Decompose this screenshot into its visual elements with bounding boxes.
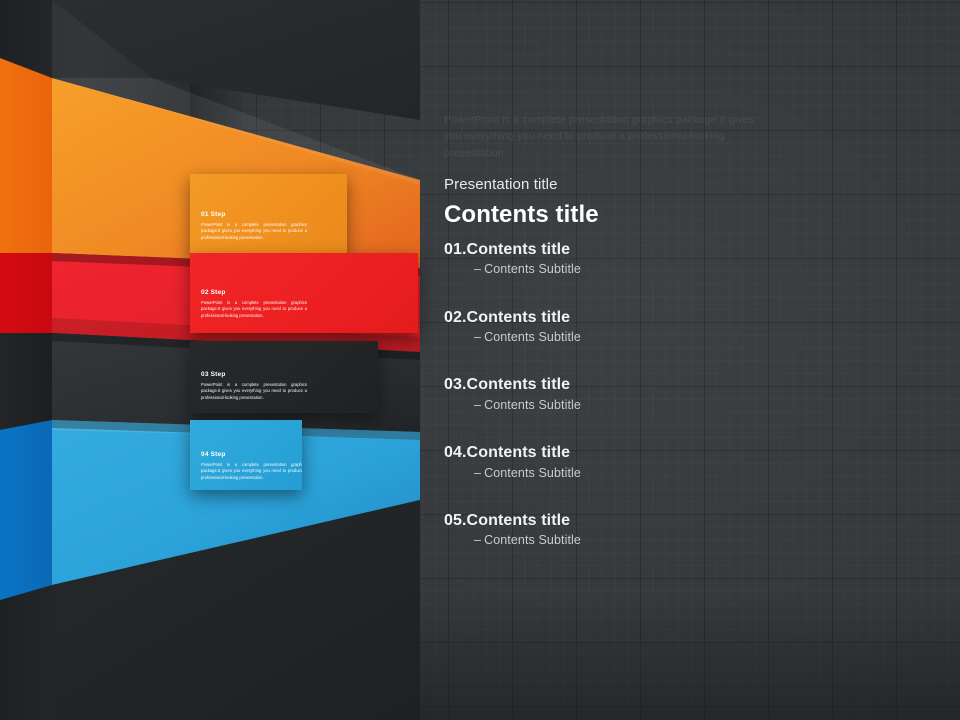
list-item[interactable]: 01.Contents title –Contents Subtitle <box>444 240 804 279</box>
list-item[interactable]: 04.Contents title –Contents Subtitle <box>444 443 804 482</box>
list-item[interactable]: 05.Contents title –Contents Subtitle <box>444 511 804 550</box>
step-card-01-body: PowerPoint is a complete presentation gr… <box>201 222 307 242</box>
dash-icon: – <box>474 466 481 480</box>
step-card-03-content: 03 Step PowerPoint is a complete present… <box>201 372 307 401</box>
page-title: Contents title <box>444 201 599 229</box>
dash-icon: – <box>474 330 481 344</box>
step-card-03[interactable]: 03 Step PowerPoint is a complete present… <box>190 341 378 413</box>
contents-item-subtitle: –Contents Subtitle <box>474 531 804 550</box>
contents-item-subtitle: –Contents Subtitle <box>474 396 804 415</box>
presentation-title: Presentation title <box>444 176 558 193</box>
contents-item-subtitle-text: Contents Subtitle <box>484 262 581 276</box>
step-card-03-body: PowerPoint is a complete presentation gr… <box>201 382 307 402</box>
dash-icon: – <box>474 398 481 412</box>
contents-item-subtitle: –Contents Subtitle <box>474 464 804 483</box>
slide-canvas: 01 Step PowerPoint is a complete present… <box>0 0 960 720</box>
step-card-01-label: 01 Step <box>201 212 307 219</box>
contents-item-subtitle-text: Contents Subtitle <box>484 330 581 344</box>
step-card-02-body: PowerPoint is a complete presentation gr… <box>201 300 307 320</box>
step-card-04-content: 04 Step PowerPoint is a complete present… <box>201 452 302 481</box>
dash-icon: – <box>474 533 481 547</box>
step-card-01-content: 01 Step PowerPoint is a complete present… <box>201 212 307 241</box>
watermark-paragraph: PowerPoint is a complete presentation gr… <box>444 112 774 161</box>
step-card-02-content: 02 Step PowerPoint is a complete present… <box>201 290 307 319</box>
contents-item-title: 02.Contents title <box>444 308 804 328</box>
contents-item-subtitle-text: Contents Subtitle <box>484 398 581 412</box>
contents-item-subtitle: –Contents Subtitle <box>474 328 804 347</box>
contents-item-title: 05.Contents title <box>444 511 804 531</box>
step-card-01[interactable]: 01 Step PowerPoint is a complete present… <box>190 174 347 253</box>
contents-list: 01.Contents title –Contents Subtitle 02.… <box>444 240 804 550</box>
step-card-04-body: PowerPoint is a complete presentation gr… <box>201 462 302 482</box>
contents-item-subtitle-text: Contents Subtitle <box>484 466 581 480</box>
list-item[interactable]: 02.Contents title –Contents Subtitle <box>444 308 804 347</box>
step-card-04-label: 04 Step <box>201 452 302 459</box>
contents-item-title: 01.Contents title <box>444 240 804 260</box>
list-item[interactable]: 03.Contents title –Contents Subtitle <box>444 375 804 414</box>
step-card-04[interactable]: 04 Step PowerPoint is a complete present… <box>190 420 302 490</box>
contents-item-title: 03.Contents title <box>444 375 804 395</box>
step-card-02[interactable]: 02 Step PowerPoint is a complete present… <box>190 253 418 333</box>
contents-item-subtitle: –Contents Subtitle <box>474 260 804 279</box>
step-card-03-label: 03 Step <box>201 372 307 379</box>
dash-icon: – <box>474 262 481 276</box>
step-card-02-label: 02 Step <box>201 290 307 297</box>
contents-item-title: 04.Contents title <box>444 443 804 463</box>
contents-item-subtitle-text: Contents Subtitle <box>484 533 581 547</box>
